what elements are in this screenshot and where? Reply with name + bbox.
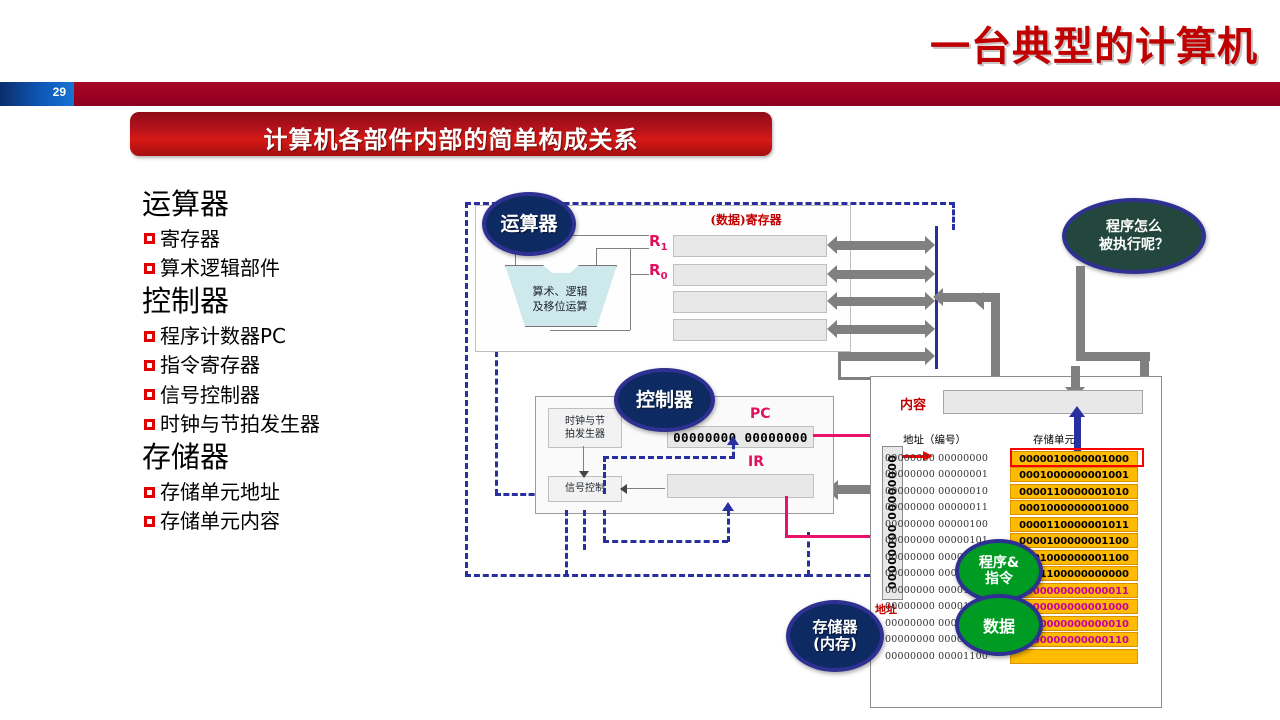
pc-register-field[interactable]: 00000000 00000000	[667, 426, 814, 448]
memory-row-value: 0000100000001100	[1010, 533, 1138, 548]
question-to-memory-drop	[1140, 356, 1149, 376]
memory-address-column-header: 地址（编号）	[903, 432, 966, 447]
square-bullet-icon	[144, 233, 155, 244]
memory-row[interactable]: 00000000 000000110001000000001000	[885, 500, 1138, 517]
control-bus-dashed-bottom	[465, 574, 810, 577]
alu-wire-right-in	[596, 248, 597, 265]
memory-row[interactable]: 00000000 000000010001000000001001	[885, 467, 1138, 484]
memory-row-value	[1010, 649, 1138, 664]
outline-item-label: 存储单元内容	[160, 507, 280, 535]
outline-item-alu-unit: 算术逻辑部件	[144, 254, 450, 282]
memory-row-address: 00000000 00000100	[885, 519, 1010, 530]
slide-number-label: 29	[53, 85, 66, 99]
slide-canvas: 一台典型的计算机 29 计算机各部件内部的简单构成关系 运算器 寄存器 算术逻辑…	[0, 0, 1280, 720]
outline-heading-alu: 运算器	[142, 186, 450, 223]
page-title: 一台典型的计算机	[930, 14, 1258, 72]
memory-row-value: 0000110000001010	[1010, 484, 1138, 499]
badge-data: 数据	[955, 594, 1043, 656]
square-bullet-icon	[144, 516, 155, 527]
square-bullet-icon	[144, 263, 155, 274]
signal-dashed-to-pc	[603, 456, 735, 459]
outline-item-register: 寄存器	[144, 225, 450, 253]
register-slot-3[interactable]	[673, 319, 827, 341]
signal-dashed-riser-a	[603, 456, 606, 494]
data-bus-arrow-r0	[836, 270, 926, 279]
memory-row-value: 0001000000001000	[1010, 500, 1138, 515]
outline-item-label: 指令寄存器	[160, 351, 260, 379]
outline-item-clock-generator: 时钟与节拍发生器	[144, 410, 450, 438]
memory-content-label: 内容	[900, 394, 926, 413]
register-slot-r1[interactable]	[673, 235, 827, 257]
ir-to-signal-wire	[623, 488, 665, 489]
memory-row-address: 00000000 00000000	[885, 453, 1010, 464]
callout-alu: 运算器	[482, 192, 576, 256]
signal-dashed-ir-stub	[727, 510, 730, 542]
memory-row-address: 00000000 00000010	[885, 486, 1010, 497]
memory-row-address: 00000000 00000011	[885, 502, 1010, 513]
ir-label: IR	[748, 454, 764, 470]
signal-dashed-pc-stub	[732, 444, 735, 457]
alu-wire-r0-branch	[630, 248, 631, 274]
memory-content-field[interactable]	[943, 390, 1143, 414]
data-bus-arrow-alu-out	[840, 352, 926, 361]
register-file-title: (数据)寄存器	[641, 211, 851, 228]
clock-to-signal-wire	[583, 446, 584, 474]
memory-content-double-arrow	[1074, 416, 1081, 452]
outline-item-label: 存储单元地址	[160, 478, 280, 506]
square-bullet-icon	[144, 331, 155, 342]
outline-item-label: 时钟与节拍发生器	[160, 410, 320, 438]
bus-inbound-arrowhead	[933, 288, 943, 306]
outline-item-label: 信号控制器	[160, 381, 260, 409]
signal-dashed-to-ir	[603, 540, 728, 543]
bus-inbound-riser	[991, 293, 1000, 368]
outline-heading-memory: 存储器	[142, 439, 450, 476]
square-bullet-icon	[144, 389, 155, 400]
outline-item-pc: 程序计数器PC	[144, 322, 450, 350]
ir-register-field[interactable]	[667, 474, 814, 498]
outline-list: 运算器 寄存器 算术逻辑部件 控制器 程序计数器PC 指令寄存器 信号控制器 时…	[140, 186, 450, 537]
control-bus-dashed-right	[952, 202, 955, 230]
memory-row[interactable]: 00000000 000001000000110000001011	[885, 516, 1138, 533]
memory-row-value: 0000110000001011	[1010, 517, 1138, 532]
outline-item-memory-address: 存储单元地址	[144, 478, 450, 506]
signal-dashed-drop-a	[565, 510, 568, 576]
callout-question: 程序怎么 被执行呢？	[1062, 198, 1206, 274]
outline-item-label: 寄存器	[160, 225, 220, 253]
signal-dashed-pc-arrowhead	[727, 436, 739, 445]
outline-item-ir: 指令寄存器	[144, 351, 450, 379]
alu-wire-result-bottom	[550, 330, 630, 331]
slide-number-badge: 29	[0, 82, 74, 106]
data-bus-wire-riser	[838, 352, 841, 380]
question-to-memory-elbow	[1076, 352, 1150, 361]
outline-item-label: 程序计数器PC	[160, 322, 286, 350]
data-bus-arrow-2	[836, 297, 926, 306]
section-banner-label: 计算机各部件内部的简单构成关系	[130, 120, 772, 155]
memory-row[interactable]: 00000000 000000100000110000001010	[885, 483, 1138, 500]
alu-wire-result-riser	[630, 274, 631, 330]
data-bus-arrow-r1	[836, 241, 926, 250]
ir-to-mar-riser	[785, 496, 788, 538]
alu-wire-r0-out	[630, 274, 649, 275]
register-slot-2[interactable]	[673, 291, 827, 313]
header-accent-bar	[74, 82, 1280, 106]
memory-row-value: 0001000000001001	[1010, 467, 1138, 482]
memory-inbound-arrow	[1071, 366, 1080, 388]
outline-item-label: 算术逻辑部件	[160, 254, 280, 282]
control-bus-dashed-riser	[807, 532, 810, 576]
memory-cell-column-header: 存储单元	[1033, 432, 1075, 447]
signal-dashed-drop-b	[583, 510, 586, 550]
data-bus-arrow-3	[836, 325, 926, 334]
signal-dashed-riser-b	[603, 510, 606, 542]
memory-row-address: 00000000 00000001	[885, 469, 1010, 480]
outline-heading-controller: 控制器	[142, 283, 450, 320]
signal-dashed-ir-arrowhead	[722, 502, 734, 511]
alu-operation-label: 算术、逻辑 及移位运算	[500, 285, 620, 315]
signal-control-box: 信号控制	[548, 476, 622, 502]
ir-to-signal-arrowhead	[620, 484, 627, 494]
outline-item-memory-content: 存储单元内容	[144, 507, 450, 535]
section-banner: 计算机各部件内部的简单构成关系	[130, 112, 772, 156]
outline-item-signal-controller: 信号控制器	[144, 381, 450, 409]
square-bullet-icon	[144, 487, 155, 498]
memory-row-value: 0000010000001000	[1010, 451, 1138, 466]
alu-wire-r0-feed	[596, 248, 649, 249]
square-bullet-icon	[144, 419, 155, 430]
register-slot-r0[interactable]	[673, 264, 827, 286]
register-label-r0: R0	[649, 261, 668, 282]
square-bullet-icon	[144, 360, 155, 371]
control-bus-dashed-left	[465, 202, 468, 577]
clock-generator-box: 时钟与节 拍发生器	[548, 408, 622, 448]
memory-row[interactable]: 00000000 000000000000010000001000	[885, 450, 1138, 467]
pc-label: PC	[750, 406, 771, 422]
register-label-r1: R1	[649, 232, 668, 253]
question-to-memory-line	[1076, 266, 1085, 361]
callout-controller: 控制器	[614, 368, 715, 432]
callout-memory: 存储器 (内存)	[786, 600, 884, 672]
clock-to-signal-arrowhead	[579, 471, 589, 478]
